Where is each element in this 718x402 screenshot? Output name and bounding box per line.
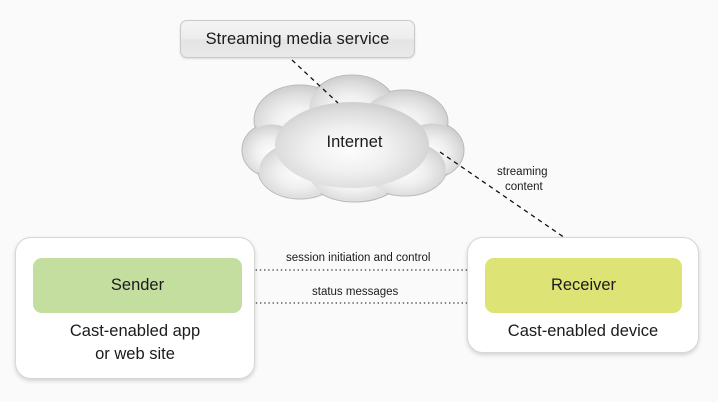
internet-label: Internet [252,133,457,152]
sender-caption-line2: or web site [15,343,255,366]
edge-label-session-initiation: session initiation and control [286,252,430,264]
diagram-canvas: Streaming media service Internet session… [0,0,718,402]
receiver-role-box: Receiver [485,258,682,313]
streaming-media-service-label: Streaming media service [206,30,390,49]
sender-caption: Cast-enabled app or web site [15,320,255,367]
streaming-media-service-node: Streaming media service [180,20,415,58]
sender-caption-line1: Cast-enabled app [15,320,255,343]
edge-label-streaming-content: streaming content [497,165,548,195]
receiver-label: Receiver [551,276,616,295]
edge-label-streaming-content-line2: content [497,180,548,195]
edge-service-to-cloud [292,60,338,103]
receiver-caption-line1: Cast-enabled device [467,320,699,343]
edge-label-streaming-content-line1: streaming [497,166,548,178]
receiver-caption: Cast-enabled device [467,320,699,343]
sender-label: Sender [111,276,164,295]
sender-role-box: Sender [33,258,242,313]
edge-label-status-messages: status messages [312,286,398,298]
